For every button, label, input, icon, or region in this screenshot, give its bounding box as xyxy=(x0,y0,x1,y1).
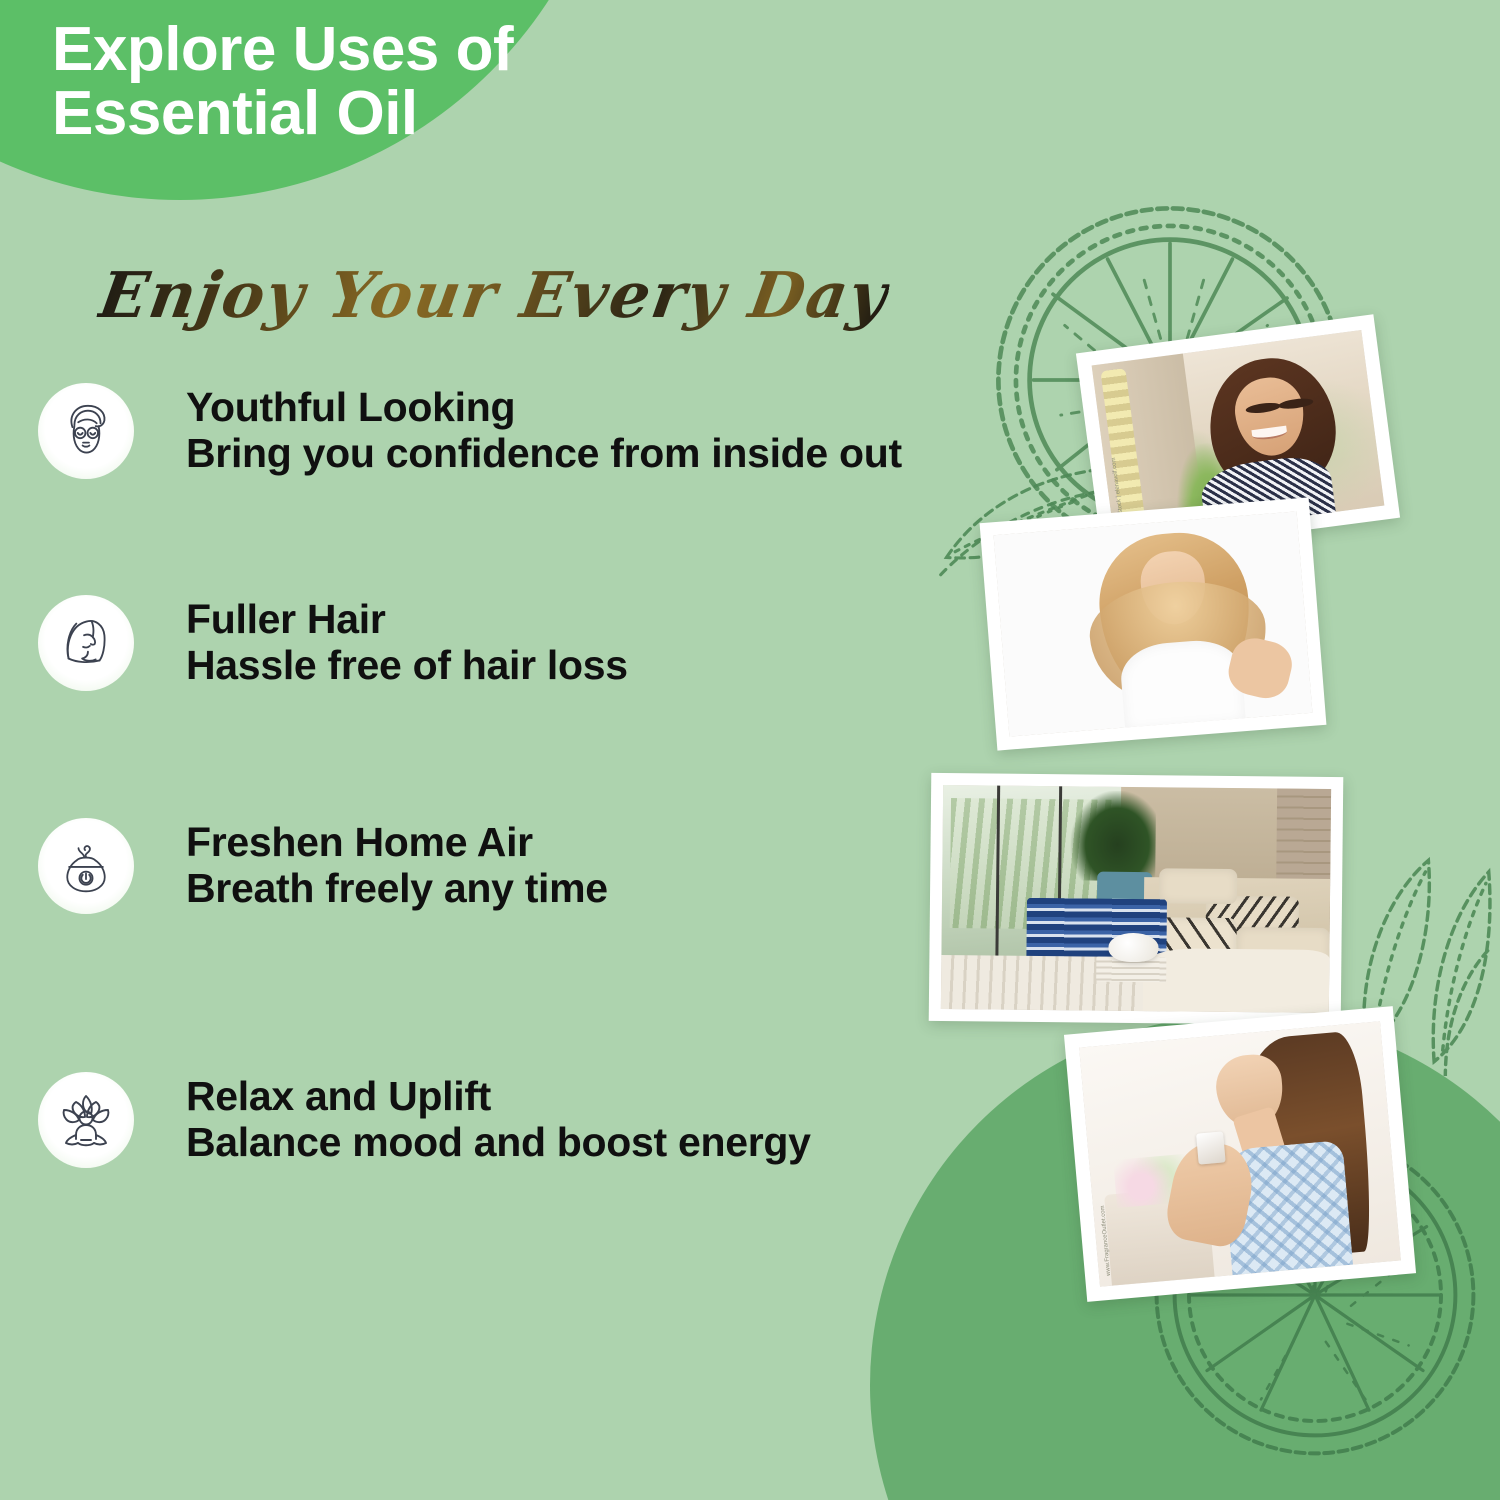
feature-title: Youthful Looking xyxy=(186,385,902,431)
page-title-line1: Explore Uses of xyxy=(52,15,513,84)
photo-woman-applying-fragrance: www.FragranceOutlet.com xyxy=(1064,1006,1416,1302)
feature-subtitle: Breath freely any time xyxy=(186,866,608,912)
aroma-diffuser-icon xyxy=(38,818,134,914)
feature-title: Freshen Home Air xyxy=(186,820,608,866)
feature-row-youthful-looking: Youthful Looking Bring you confidence fr… xyxy=(38,383,902,479)
feature-subtitle: Bring you confidence from inside out xyxy=(186,431,902,477)
feature-row-fuller-hair: Fuller Hair Hassle free of hair loss xyxy=(38,595,628,691)
feature-subtitle: Hassle free of hair loss xyxy=(186,643,628,689)
photo-woman-applying-fragrance-image: www.FragranceOutlet.com xyxy=(1079,1021,1401,1286)
photo-boho-living-room xyxy=(929,773,1344,1025)
feature-subtitle: Balance mood and boost energy xyxy=(186,1120,811,1166)
feature-row-freshen-home-air: Freshen Home Air Breath freely any time xyxy=(38,818,608,914)
feature-title: Fuller Hair xyxy=(186,597,628,643)
page-title: Explore Uses of Essential Oil xyxy=(52,18,692,146)
infographic-canvas: Explore Uses of Essential Oil Enjoy Your… xyxy=(0,0,1500,1500)
page-title-line2: Essential Oil xyxy=(52,82,692,146)
photo-blonde-wavy-hair xyxy=(980,497,1327,750)
lotus-meditation-icon xyxy=(38,1072,134,1168)
photo-boho-living-room-image xyxy=(941,785,1331,1013)
photo-blonde-wavy-hair-image xyxy=(994,511,1313,736)
facial-mask-icon xyxy=(38,383,134,479)
feature-title: Relax and Uplift xyxy=(186,1074,811,1120)
feature-row-relax-and-uplift: Relax and Uplift Balance mood and boost … xyxy=(38,1072,811,1168)
long-hair-profile-icon xyxy=(38,595,134,691)
tagline: Enjoy Your Every Day xyxy=(94,258,894,332)
